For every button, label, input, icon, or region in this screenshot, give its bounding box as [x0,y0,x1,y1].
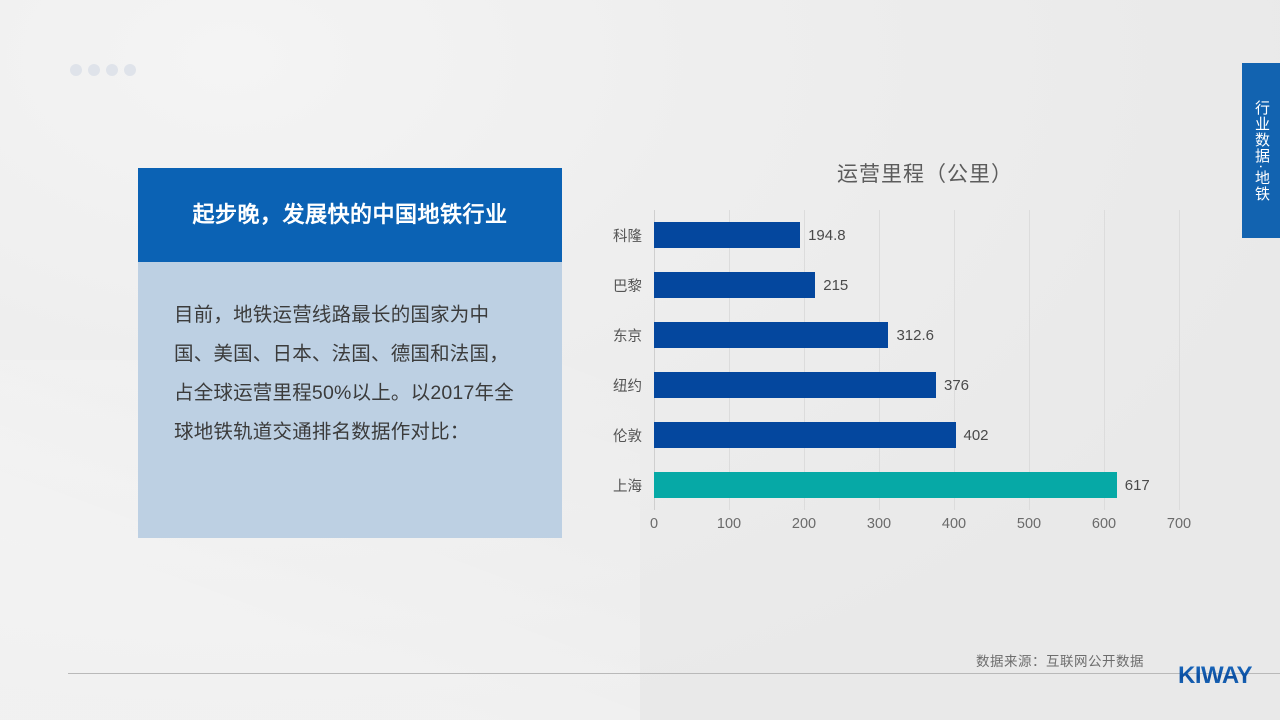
chart-bar[interactable] [654,322,888,348]
gridline [1179,210,1180,510]
data-source-note: 数据来源：互联网公开数据 [976,650,1144,670]
chart-bar[interactable] [654,422,956,448]
dot-icon [124,64,136,76]
footer-divider [68,673,1280,674]
slide-canvas: 起步晚，发展快的中国地铁行业 目前，地铁运营线路最长的国家为中国、美国、日本、法… [0,0,1280,720]
chart-x-tick-label: 400 [942,516,966,532]
chart-x-tick-label: 500 [1017,516,1041,532]
info-card-body: 目前，地铁运营线路最长的国家为中国、美国、日本、法国、德国和法国，占全球运营里程… [138,262,562,538]
chart-x-tick-label: 0 [650,516,658,532]
chart-x-tick-label: 600 [1092,516,1116,532]
chart-bar-row: 东京312.6 [654,322,1179,348]
chart-bar[interactable] [654,372,936,398]
dot-icon [88,64,100,76]
decor-dots [70,64,136,76]
chart-bar-rows: 科隆194.8巴黎215东京312.6纽约376伦敦402上海617 [654,210,1179,510]
chart-bar-row: 巴黎215 [654,272,1179,298]
bar-chart: 运营里程（公里） 科隆194.8巴黎215东京312.6纽约376伦敦402上海… [596,158,1196,558]
chart-category-label: 上海 [613,475,642,496]
chart-bar-value: 402 [964,427,989,444]
chart-category-label: 伦敦 [613,425,642,446]
chart-category-label: 纽约 [613,375,642,396]
dot-icon [106,64,118,76]
chart-bar-row: 纽约376 [654,372,1179,398]
chart-bar-value: 194.8 [808,227,846,244]
chart-title: 运营里程（公里） [654,158,1196,188]
dot-icon [70,64,82,76]
chart-x-tick-label: 200 [792,516,816,532]
chart-x-axis: 0100200300400500600700 [654,510,1179,538]
chart-bar[interactable] [654,272,815,298]
chart-bar[interactable] [654,472,1117,498]
chart-x-tick-label: 100 [717,516,741,532]
chart-x-tick-label: 700 [1167,516,1191,532]
chart-category-label: 巴黎 [613,275,642,296]
page-title: 起步晚，发展快的中国地铁行业 [192,201,507,230]
chart-bar-row: 上海617 [654,472,1179,498]
chart-x-tick-label: 300 [867,516,891,532]
chart-bar-row: 伦敦402 [654,422,1179,448]
info-card-header: 起步晚，发展快的中国地铁行业 [138,168,562,262]
chart-plot-area: 科隆194.8巴黎215东京312.6纽约376伦敦402上海617 [654,210,1179,510]
section-tab[interactable]: 行业数据·地铁 [1242,63,1280,238]
info-card: 起步晚，发展快的中国地铁行业 目前，地铁运营线路最长的国家为中国、美国、日本、法… [138,168,562,538]
chart-bar-value: 215 [823,277,848,294]
chart-category-label: 东京 [613,325,642,346]
chart-bar-value: 312.6 [896,327,934,344]
chart-bar[interactable] [654,222,800,248]
info-card-paragraph: 目前，地铁运营线路最长的国家为中国、美国、日本、法国、德国和法国，占全球运营里程… [174,296,528,452]
chart-bar-value: 617 [1125,477,1150,494]
chart-bar-value: 376 [944,377,969,394]
chart-bar-row: 科隆194.8 [654,222,1179,248]
chart-category-label: 科隆 [613,225,642,246]
kiway-logo: KIWAY [1178,662,1252,690]
